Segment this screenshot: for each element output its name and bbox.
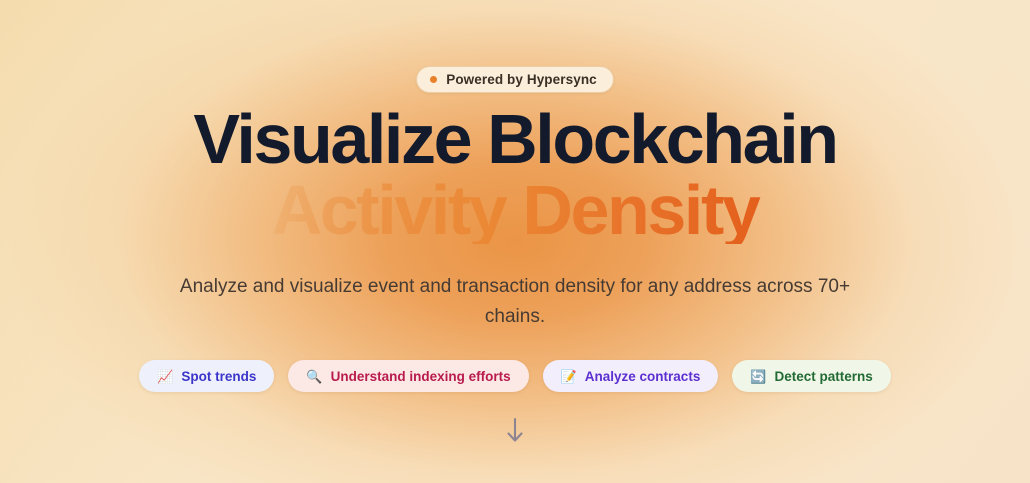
pill-understand-indexing-efforts-label: Understand indexing efforts — [331, 369, 511, 384]
pill-analyze-contracts[interactable]: 📝 Analyze contracts — [543, 360, 719, 392]
pill-spot-trends-label: Spot trends — [181, 369, 256, 384]
pill-spot-trends[interactable]: 📈 Spot trends — [139, 360, 274, 392]
pill-understand-indexing-efforts[interactable]: 🔍 Understand indexing efforts — [288, 360, 528, 392]
feature-pill-row: 📈 Spot trends 🔍 Understand indexing effo… — [139, 360, 891, 392]
hero-section: Powered by Hypersync Visualize Blockchai… — [0, 0, 1030, 483]
page-subtitle: Analyze and visualize event and transact… — [165, 272, 865, 332]
powered-by-badge: Powered by Hypersync — [416, 66, 614, 93]
powered-by-badge-label: Powered by Hypersync — [446, 72, 597, 87]
chart-increasing-icon: 📈 — [157, 370, 173, 383]
orange-dot-icon — [430, 76, 437, 83]
pill-analyze-contracts-label: Analyze contracts — [585, 369, 701, 384]
page-title-line-2: Activity Density — [193, 176, 836, 245]
magnifying-glass-icon: 🔍 — [306, 370, 322, 383]
page-title-line-1: Visualize Blockchain — [193, 105, 836, 174]
pill-detect-patterns-label: Detect patterns — [775, 369, 873, 384]
counterclockwise-arrows-icon: 🔄 — [750, 370, 766, 383]
page-title: Visualize Blockchain Activity Density — [193, 105, 836, 244]
pill-detect-patterns[interactable]: 🔄 Detect patterns — [732, 360, 890, 392]
memo-icon: 📝 — [561, 370, 577, 383]
arrow-down-icon[interactable] — [502, 414, 528, 446]
